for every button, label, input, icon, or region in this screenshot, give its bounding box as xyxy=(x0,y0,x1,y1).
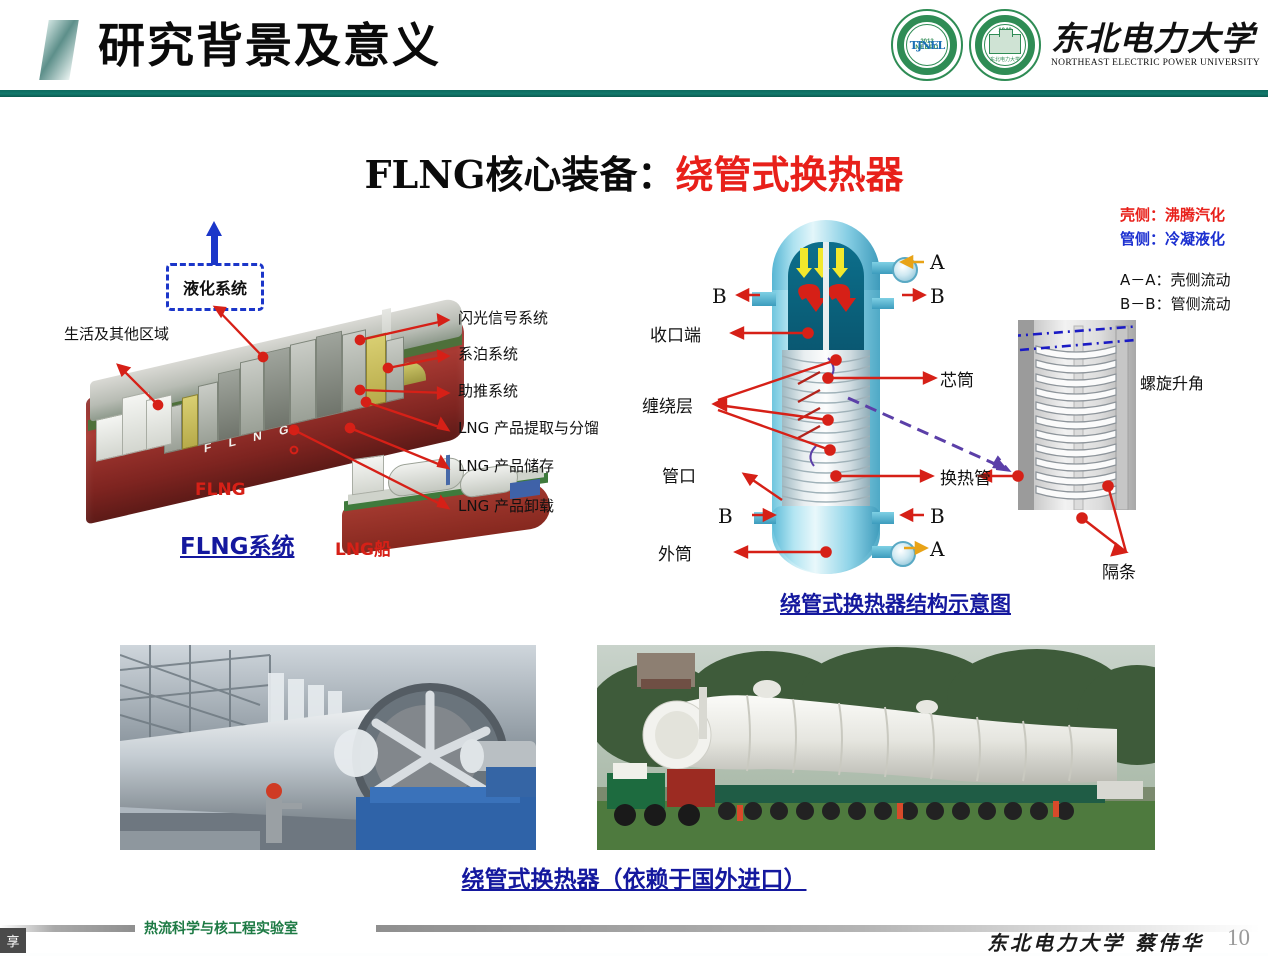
university-seal-logo: 1949 东北电力大学 xyxy=(969,9,1041,81)
vessel-tube-bundle xyxy=(782,350,870,510)
wound-tube-vessel xyxy=(772,220,880,580)
label-lng-ship-tag: LNG船 xyxy=(335,535,391,560)
module xyxy=(366,333,386,408)
marker-a-bottom: A xyxy=(930,537,944,561)
module xyxy=(198,381,218,446)
module xyxy=(182,394,198,450)
label-shell: 外筒 xyxy=(658,540,692,565)
label-flng-tag: FLNG xyxy=(195,480,246,500)
slide-root: 研究背景及意义 2013 TJNEL NEEPU 1949 东北电力大学 xyxy=(0,0,1268,953)
slide-header: 研究背景及意义 2013 TJNEL NEEPU 1949 东北电力大学 xyxy=(0,0,1268,92)
marker-b-bottom-right: B xyxy=(930,504,945,528)
label-storage: LNG 产品储存 xyxy=(458,455,554,476)
flng-system-figure: F L N G xyxy=(60,215,640,580)
content-title-black: FLNG核心装备： xyxy=(365,152,676,197)
content-title-red: 绕管式换热器 xyxy=(675,153,903,197)
nozzle-b-top-right xyxy=(872,298,894,309)
lab-seal-logo: 2013 TJNEL NEEPU xyxy=(891,9,963,81)
label-nozzle: 管口 xyxy=(662,462,696,487)
seal-inner: 2013 TJNEL NEEPU xyxy=(906,24,948,66)
lng-crane-mast xyxy=(446,455,450,486)
slide-footer: 热流科学与核工程实验室 东北电力大学 蔡伟华 10 xyxy=(0,905,1268,953)
arrow-shaft xyxy=(211,233,218,265)
module xyxy=(386,336,404,402)
module xyxy=(264,347,290,431)
module xyxy=(218,368,240,441)
university-wordmark: 东北电力大学 NORTHEAST ELECTRIC POWER UNIVERSI… xyxy=(1051,21,1260,70)
vessel-bottom xyxy=(772,506,880,574)
university-name-cn: 东北电力大学 xyxy=(1051,21,1260,57)
marker-b-bottom-left: B xyxy=(718,504,733,528)
seal-cn-name: 东北电力大学 xyxy=(990,56,1020,63)
detail-tube-rows xyxy=(1018,320,1136,510)
label-offloading: LNG 产品卸载 xyxy=(458,495,554,516)
lng-superstructure xyxy=(352,455,384,495)
arrow-head xyxy=(206,221,222,236)
marker-a-top: A xyxy=(930,250,944,274)
nozzle-b-bottom-right xyxy=(872,512,894,524)
module xyxy=(290,339,316,425)
vessel-core-cavity xyxy=(788,242,864,362)
accommodation-block xyxy=(146,394,172,450)
module xyxy=(342,329,366,413)
corner-watermark: 享 xyxy=(0,928,26,953)
flng-figure-caption: FLNG系统 xyxy=(180,527,295,561)
nozzle-b-bottom-left xyxy=(754,512,776,524)
flange-a-bottom xyxy=(890,541,916,567)
heat-exchanger-figure: 壳侧：沸腾汽化 管侧：冷凝液化 A－A：壳侧流动 B－B：管侧流动 xyxy=(640,200,1268,620)
label-extraction: LNG 产品提取与分馏 xyxy=(458,417,599,438)
lab-name: 热流科学与核工程实验室 xyxy=(144,918,298,938)
label-inlet-end: 收口端 xyxy=(650,321,701,346)
label-helix-angle: 螺旋升角 xyxy=(1140,370,1204,394)
tube-bundle-detail-panel xyxy=(1018,320,1136,510)
legend-aa: A－A：壳侧流动 xyxy=(1120,269,1268,290)
factory-photo xyxy=(120,645,536,850)
header-divider xyxy=(0,90,1268,97)
legend-shell-side: 壳侧：沸腾汽化 xyxy=(1120,204,1268,225)
marker-b-top-left: B xyxy=(712,284,727,308)
label-core-tube: 芯筒 xyxy=(940,366,974,391)
header-accent-bar xyxy=(39,20,79,80)
module xyxy=(240,357,264,437)
content-title: FLNG核心装备：绕管式换热器 xyxy=(0,144,1268,199)
nozzle-b-top-left xyxy=(752,292,776,306)
label-thruster: 助推系统 xyxy=(458,380,518,401)
university-name-en: NORTHEAST ELECTRIC POWER UNIVERSITY xyxy=(1051,58,1260,68)
seal-mark: TJNEL xyxy=(910,39,945,52)
label-flashing-signal: 闪光信号系统 xyxy=(458,307,548,328)
legend-bb: B－B：管侧流动 xyxy=(1120,293,1268,314)
flange-a-top xyxy=(892,257,918,283)
core-flow-arrows xyxy=(788,242,864,362)
transport-photo-art xyxy=(597,645,1155,850)
logo-group: 2013 TJNEL NEEPU 1949 东北电力大学 东北电力大学 NORT… xyxy=(891,6,1260,84)
hx-figure-caption: 绕管式换热器结构示意图 xyxy=(780,588,1011,618)
helical-tube-windings xyxy=(782,350,870,510)
label-mooring: 系泊系统 xyxy=(458,343,518,364)
liquefaction-callout-box: 液化系统 xyxy=(166,263,264,311)
presenter-signature: 东北电力大学 蔡伟华 xyxy=(987,927,1204,956)
label-living-area: 生活及其他区域 xyxy=(64,323,169,344)
page-title: 研究背景及意义 xyxy=(98,14,441,80)
label-heat-tube: 换热管 xyxy=(940,464,991,489)
building-icon xyxy=(989,34,1021,54)
page-number: 10 xyxy=(1227,925,1250,951)
marker-b-top-right: B xyxy=(930,284,945,308)
module xyxy=(316,331,342,419)
legend-tube-side: 管侧：冷凝液化 xyxy=(1120,228,1268,249)
seal-inner: 1949 东北电力大学 xyxy=(984,24,1026,66)
liquefaction-label: 液化系统 xyxy=(183,275,247,299)
label-spacer: 隔条 xyxy=(1102,558,1136,583)
photos-caption: 绕管式换热器（依赖于国外进口） xyxy=(0,860,1268,894)
label-wound-layer: 缠绕层 xyxy=(642,392,693,417)
factory-photo-art xyxy=(120,645,536,850)
hx-legend: 壳侧：沸腾汽化 管侧：冷凝液化 A－A：壳侧流动 B－B：管侧流动 xyxy=(1120,204,1268,314)
transport-photo xyxy=(597,645,1155,850)
